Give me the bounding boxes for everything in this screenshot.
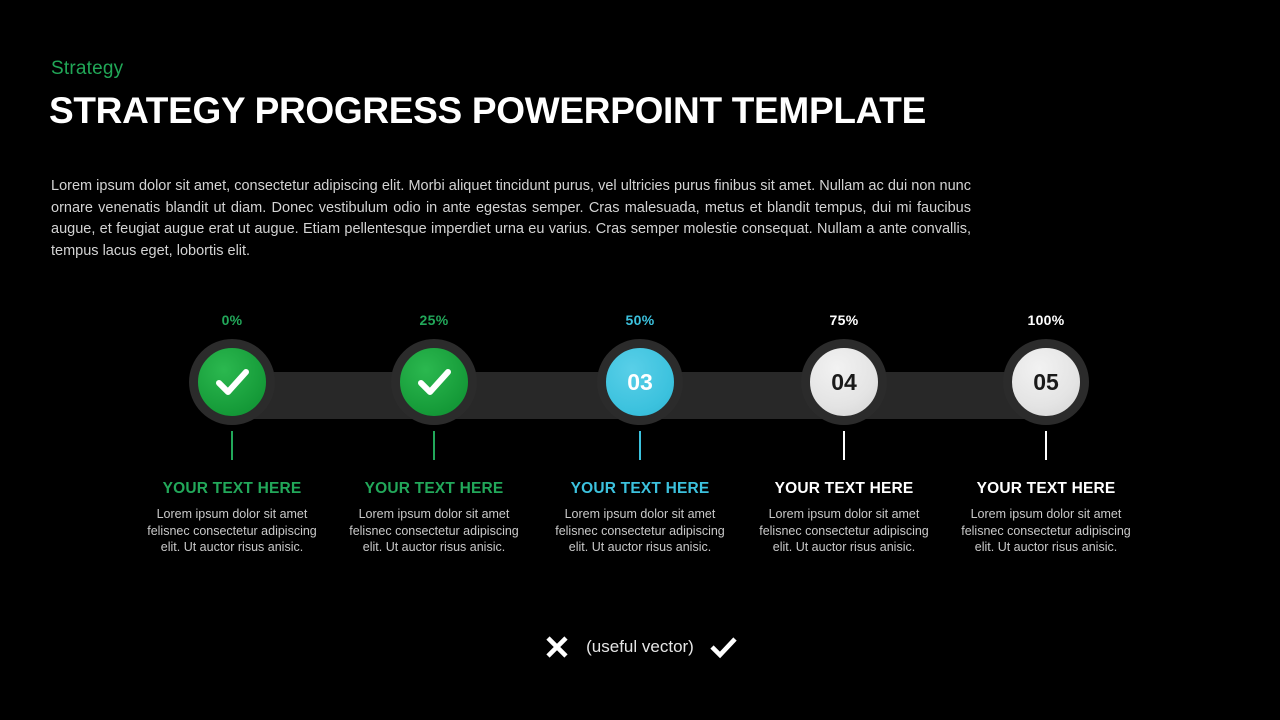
step-node-area: 03 xyxy=(538,339,742,435)
step-node-area xyxy=(130,339,334,435)
step-number: 04 xyxy=(831,371,857,394)
close-x-icon xyxy=(542,632,572,662)
eyebrow-label: Strategy xyxy=(51,58,123,80)
step-percent-label: 75% xyxy=(742,310,946,330)
step-connector-line xyxy=(639,431,641,460)
step-number: 05 xyxy=(1033,371,1059,394)
timeline-step[interactable]: 25%YOUR TEXT HERELorem ipsum dolor sit a… xyxy=(332,310,536,435)
footer-note: (useful vector) xyxy=(0,632,1280,662)
step-title: YOUR TEXT HERE xyxy=(538,480,742,498)
timeline-step[interactable]: 75%04YOUR TEXT HERELorem ipsum dolor sit… xyxy=(742,310,946,435)
step-title: YOUR TEXT HERE xyxy=(742,480,946,498)
step-percent-label: 50% xyxy=(538,310,742,330)
step-title: YOUR TEXT HERE xyxy=(944,480,1148,498)
intro-paragraph: Lorem ipsum dolor sit amet, consectetur … xyxy=(51,176,971,262)
step-node[interactable]: 05 xyxy=(1003,339,1089,425)
step-node-area: 05 xyxy=(944,339,1148,435)
step-node[interactable]: 04 xyxy=(801,339,887,425)
step-percent-label: 25% xyxy=(332,310,536,330)
slide-canvas: Strategy STRATEGY PROGRESS POWERPOINT TE… xyxy=(0,0,1280,720)
step-description: Lorem ipsum dolor sit amet felisnec cons… xyxy=(138,506,326,556)
step-description: Lorem ipsum dolor sit amet felisnec cons… xyxy=(340,506,528,556)
timeline-step[interactable]: 100%05YOUR TEXT HERELorem ipsum dolor si… xyxy=(944,310,1148,435)
step-description: Lorem ipsum dolor sit amet felisnec cons… xyxy=(546,506,734,556)
step-percent-label: 100% xyxy=(944,310,1148,330)
step-node-area xyxy=(332,339,536,435)
step-node-area: 04 xyxy=(742,339,946,435)
step-description: Lorem ipsum dolor sit amet felisnec cons… xyxy=(750,506,938,556)
step-title: YOUR TEXT HERE xyxy=(332,480,536,498)
step-connector-line xyxy=(231,431,233,460)
step-percent-label: 0% xyxy=(130,310,334,330)
check-icon xyxy=(708,632,738,662)
step-description: Lorem ipsum dolor sit amet felisnec cons… xyxy=(952,506,1140,556)
check-icon xyxy=(414,362,454,402)
progress-timeline: 0%YOUR TEXT HERELorem ipsum dolor sit am… xyxy=(0,310,1280,610)
step-connector-line xyxy=(433,431,435,460)
step-connector-line xyxy=(1045,431,1047,460)
step-number: 03 xyxy=(627,371,653,394)
page-title: STRATEGY PROGRESS POWERPOINT TEMPLATE xyxy=(49,90,926,132)
check-icon xyxy=(212,362,252,402)
step-connector-line xyxy=(843,431,845,460)
step-node[interactable]: 03 xyxy=(597,339,683,425)
timeline-step[interactable]: 50%03YOUR TEXT HERELorem ipsum dolor sit… xyxy=(538,310,742,435)
step-node[interactable] xyxy=(391,339,477,425)
footer-label: (useful vector) xyxy=(586,637,694,657)
step-title: YOUR TEXT HERE xyxy=(130,480,334,498)
step-node[interactable] xyxy=(189,339,275,425)
timeline-step[interactable]: 0%YOUR TEXT HERELorem ipsum dolor sit am… xyxy=(130,310,334,435)
